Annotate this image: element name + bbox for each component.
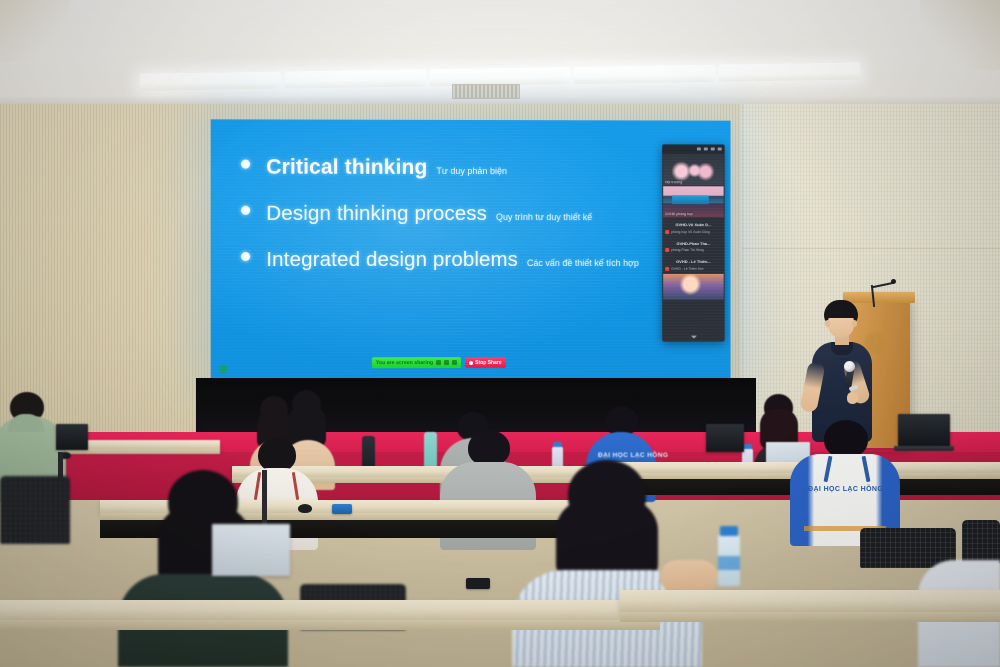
- ceiling-light-panel: [285, 69, 426, 88]
- lecture-hall-photo: Critical thinking Tư duy phản biện Desig…: [0, 0, 1000, 667]
- bottle-label: [718, 556, 740, 570]
- bullet-dot-icon: [241, 206, 250, 215]
- participant-entry[interactable]: GVHD-Phan Tha... phòng Phan Thị Hồng: [662, 236, 724, 254]
- zoom-window-titlebar[interactable]: [662, 144, 724, 153]
- bullet-dot-icon: [241, 252, 250, 261]
- share-indicator-icon[interactable]: [219, 365, 228, 374]
- attendee-head: [258, 438, 296, 472]
- desk-edge: [620, 612, 1000, 622]
- thermos-flask: [362, 436, 375, 470]
- minimize-icon[interactable]: [697, 147, 701, 150]
- participant-subtext: GVHD - Lê Thiên Kim: [671, 266, 703, 270]
- annotate-icon[interactable]: [444, 360, 449, 365]
- smartphone: [466, 578, 490, 589]
- wall-seam: [742, 248, 1000, 249]
- chair: [962, 520, 1000, 564]
- attendee-hand: [660, 560, 718, 594]
- sharing-status-label: You are screen sharing: [376, 360, 433, 366]
- restore-icon[interactable]: [711, 147, 715, 150]
- participant-name: GVHD-Vũ Xuân D...: [665, 222, 721, 227]
- uniform-text: ĐẠI HỌC LẠC HỒNG: [808, 486, 882, 493]
- laptop-base: [894, 446, 954, 451]
- slide-surface: Critical thinking Tư duy phản biện Desig…: [211, 119, 731, 380]
- microphone-muted-icon: [665, 248, 669, 252]
- participant-subtext: phòng họp Vũ Xuân Dũng: [671, 230, 710, 234]
- tile-name-label: Hội trường: [665, 180, 682, 184]
- slide-bullet: Design thinking process Quy trình tư duy…: [241, 202, 711, 226]
- chevron-down-icon[interactable]: [690, 336, 696, 339]
- projection-screen: Critical thinking Tư duy phản biện Desig…: [211, 119, 731, 380]
- smartphone: [332, 504, 352, 514]
- maximize-icon[interactable]: [704, 147, 708, 150]
- bullet-text-vietnamese: Tư duy phản biện: [436, 166, 507, 176]
- tile-name-label: GVHD phòng học: [665, 212, 693, 216]
- participant-entry[interactable]: GVHD-Vũ Xuân D... phòng họp Vũ Xuân Dũng: [662, 217, 724, 235]
- desk: [620, 590, 1000, 612]
- handheld-microphone-head: [844, 361, 855, 372]
- participant-status: phòng Phan Thị Hồng: [665, 248, 721, 252]
- stop-share-label: Stop Share: [475, 359, 501, 365]
- participant-name: GVHD-Phan Tha...: [665, 241, 721, 246]
- laptop-screen: [898, 414, 950, 446]
- zoom-video-tile[interactable]: [663, 273, 723, 299]
- ceiling-corner-right: [920, 0, 1000, 70]
- more-icon[interactable]: [452, 360, 457, 365]
- participant-subtext: phòng Phan Thị Hồng: [671, 248, 704, 252]
- slide-bullet: Critical thinking Tư duy phản biện: [241, 156, 711, 181]
- pause-icon[interactable]: [436, 360, 441, 365]
- slide-bullet: Integrated design problems Các vấn đề th…: [241, 248, 711, 272]
- microphone-muted-icon: [665, 230, 669, 234]
- panel-scroll-down[interactable]: [662, 333, 724, 342]
- screen-share-toolbar[interactable]: You are screen sharing Stop Share: [372, 357, 506, 368]
- presenter-hand: [847, 392, 858, 404]
- bottle-cap: [720, 526, 738, 536]
- zoom-video-tile-active[interactable]: GVHD phòng học: [663, 186, 723, 217]
- ceiling-light-panel: [719, 62, 860, 81]
- desk-edge: [0, 620, 660, 630]
- participant-status: phòng họp Vũ Xuân Dũng: [665, 230, 721, 234]
- presenter-ear-left: [825, 320, 830, 327]
- bullet-text-english: Critical thinking: [266, 156, 427, 180]
- close-icon[interactable]: [718, 148, 722, 151]
- bullet-text-vietnamese: Quy trình tư duy thiết kế: [496, 212, 592, 222]
- ceiling-light-panel: [140, 71, 281, 90]
- bottle-cap: [743, 444, 752, 449]
- video-thumbnail: [663, 273, 723, 299]
- gooseneck-microphone-head: [891, 279, 896, 284]
- stop-icon: [469, 360, 473, 364]
- laptop-screen: [706, 424, 744, 452]
- bullet-dot-icon: [241, 160, 250, 169]
- bullet-text-vietnamese: Các vấn đề thiết kế tích hợp: [527, 258, 639, 268]
- chair: [0, 476, 70, 544]
- sharing-status-pill: You are screen sharing: [372, 357, 461, 368]
- uniform-text: ĐẠI HỌC LẠC HỒNG: [598, 452, 652, 459]
- ceiling-corner-left: [0, 0, 70, 62]
- participant-entry[interactable]: GVHD - Lê Thiên... GVHD - Lê Thiên Kim: [662, 254, 724, 272]
- presenter-hair-fringe: [825, 306, 857, 318]
- microphone-muted-icon: [665, 266, 669, 270]
- zoom-participant-panel[interactable]: Hội trường GVHD phòng học GVHD-Vũ Xuân D…: [662, 144, 724, 341]
- desk: [0, 600, 660, 620]
- slide-bullet-list: Critical thinking Tư duy phản biện Desig…: [241, 156, 711, 295]
- bullet-text-english: Integrated design problems: [266, 248, 518, 272]
- thermos-flask: [424, 432, 437, 470]
- presenter-ear-right: [852, 320, 857, 327]
- attendee-head: [824, 420, 868, 458]
- stop-share-button[interactable]: Stop Share: [465, 357, 505, 368]
- attendee-head: [468, 430, 510, 466]
- computer-mouse: [298, 504, 312, 513]
- laptop-screen: [56, 424, 88, 450]
- participant-status: GVHD - Lê Thiên Kim: [665, 266, 721, 270]
- bottle-cap: [553, 442, 562, 447]
- zoom-video-tile[interactable]: Hội trường: [663, 154, 723, 185]
- ceiling-light-panel: [574, 65, 715, 84]
- participant-name: GVHD - Lê Thiên...: [665, 259, 721, 264]
- bullet-text-english: Design thinking process: [266, 202, 487, 226]
- laptop-screen: [212, 524, 290, 576]
